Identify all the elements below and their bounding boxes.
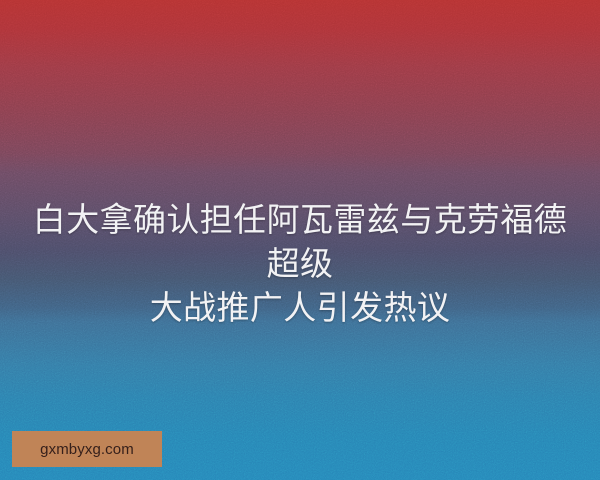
- banner-image: 白大拿确认担任阿瓦雷兹与克劳福德超级 大战推广人引发热议 gxmbyxg.com: [0, 0, 600, 480]
- watermark-badge: gxmbyxg.com: [12, 431, 162, 467]
- watermark-label: gxmbyxg.com: [40, 442, 134, 457]
- headline-text: 白大拿确认担任阿瓦雷兹与克劳福德超级 大战推广人引发热议: [0, 198, 600, 330]
